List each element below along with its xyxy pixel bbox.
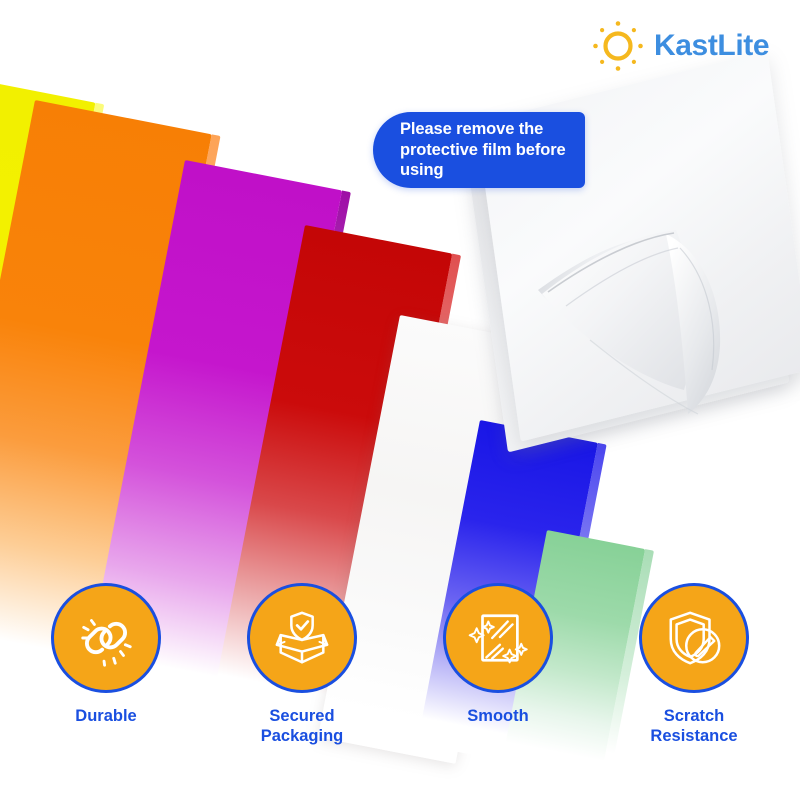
shield-box-icon [271, 607, 333, 669]
brand-wordmark: KastLite [654, 29, 769, 63]
feature-durable: Durable [36, 583, 176, 727]
sun-icon [590, 18, 646, 74]
feature-scratch-resistance: Scratch Resistance [624, 583, 764, 747]
feature-label: Secured Packaging [261, 707, 344, 747]
feature-secured-packaging: Secured Packaging [232, 583, 372, 747]
feature-badge-circle [639, 583, 749, 693]
feature-smooth: Smooth [428, 583, 568, 727]
feature-badge-row: Durable Secured Packaging [0, 583, 800, 783]
feature-label: Scratch Resistance [650, 707, 737, 747]
chain-link-icon [75, 607, 137, 669]
feature-label: Smooth [467, 707, 528, 727]
protective-film-callout: Please remove the protective film before… [373, 112, 585, 188]
shield-knife-icon [663, 607, 725, 669]
feature-label: Durable [75, 707, 136, 727]
brand-logo: KastLite [590, 18, 769, 74]
feature-badge-circle [51, 583, 161, 693]
feature-badge-circle [247, 583, 357, 693]
callout-text: Please remove the protective film before… [373, 119, 585, 182]
sparkle-panel-icon [467, 607, 529, 669]
product-marketing-image: Please remove the protective film before… [0, 0, 800, 800]
feature-badge-circle [443, 583, 553, 693]
